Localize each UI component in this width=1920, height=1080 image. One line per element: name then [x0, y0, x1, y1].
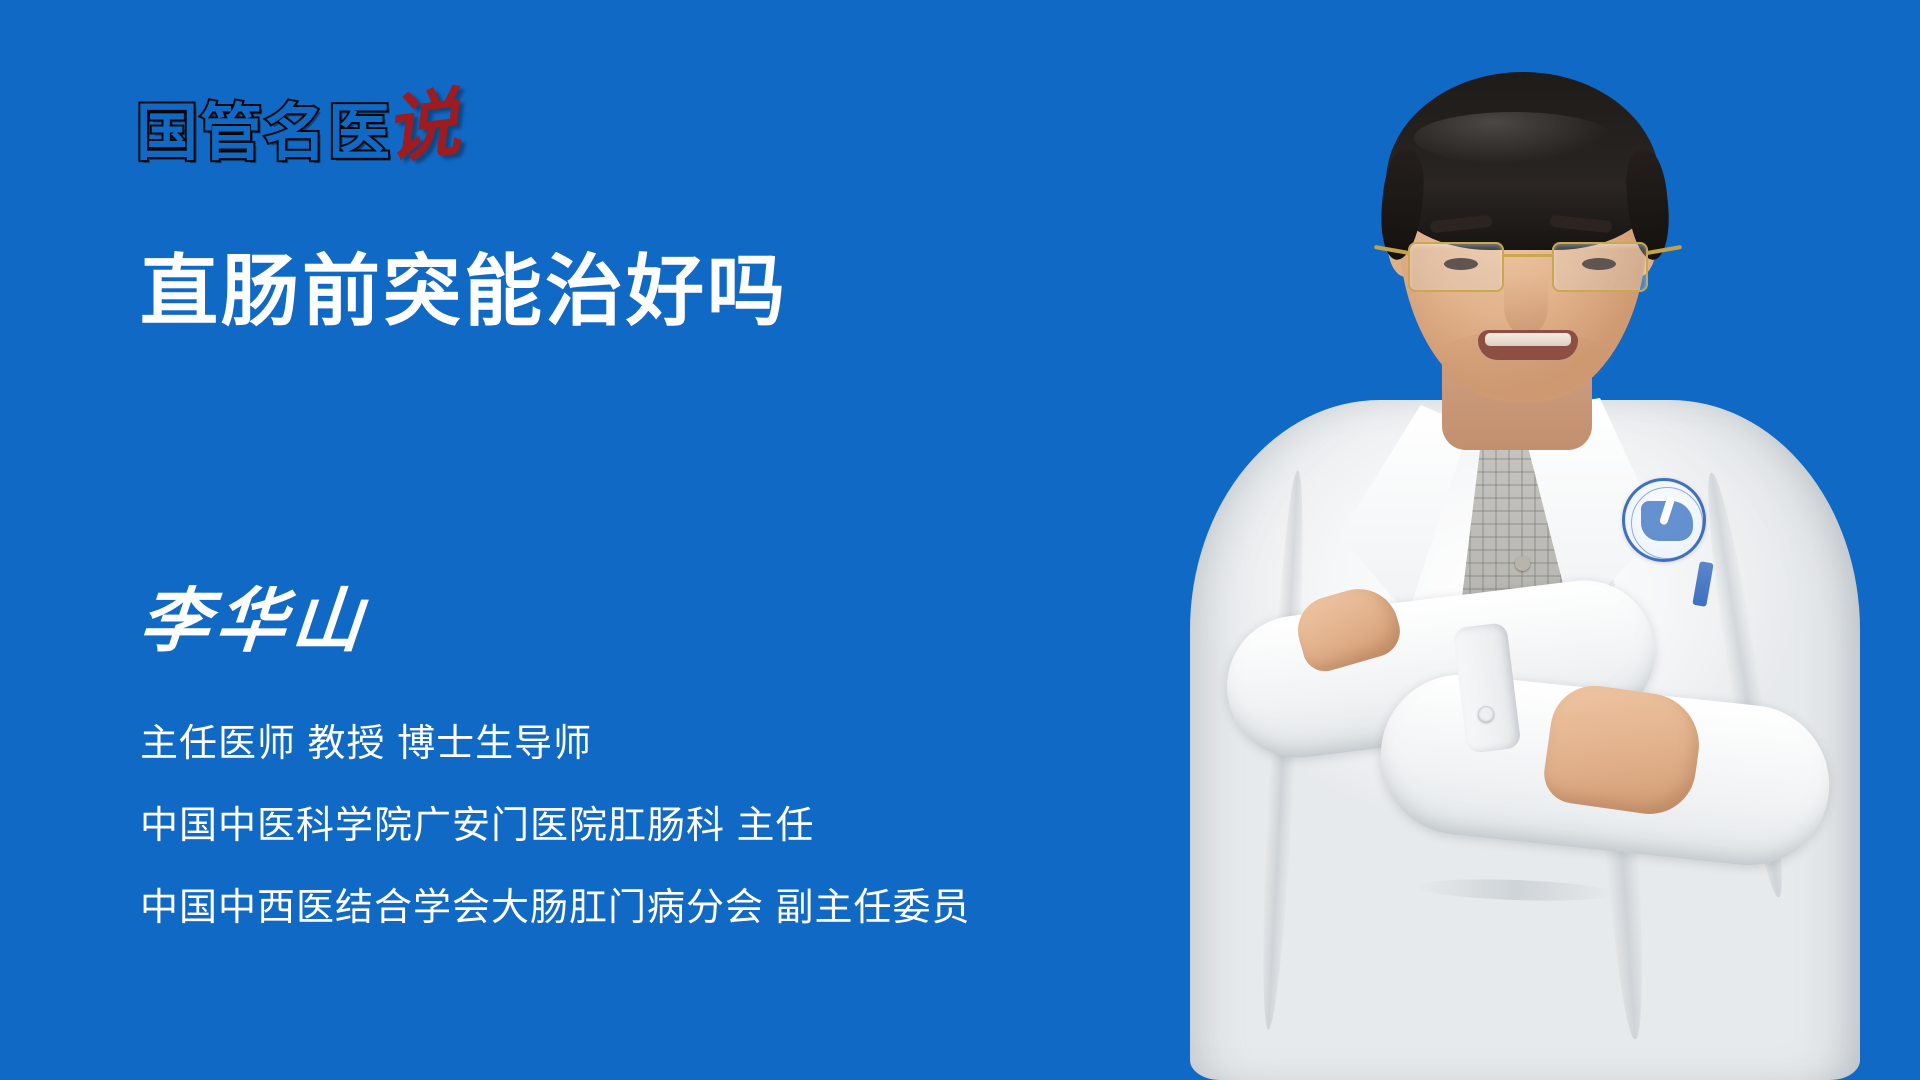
- glasses-lens-left: [1408, 242, 1504, 292]
- credential-line-2: 中国中医科学院广安门医院肛肠科 主任: [140, 804, 971, 848]
- doctor-portrait-image: [1130, 0, 1920, 1080]
- credential-line-3: 中国中西医结合学会大肠肛门病分会 副主任委员: [140, 886, 971, 930]
- hair: [1386, 72, 1660, 250]
- credential-line-1: 主任医师 教授 博士生导师: [140, 722, 971, 766]
- program-logo-accent-text: 说: [382, 92, 463, 163]
- shirt-button: [1515, 556, 1530, 571]
- program-logo-main-text: 国管名医: [136, 102, 392, 164]
- nose: [1504, 276, 1548, 336]
- hospital-emblem-badge-icon: [1622, 478, 1706, 562]
- badge-ring: [1631, 487, 1703, 559]
- glasses-bridge: [1504, 254, 1552, 257]
- speaker-name: 李华山: [137, 582, 372, 660]
- program-logo: 国管名医 说: [136, 86, 460, 164]
- cuff-button: [1478, 706, 1494, 722]
- teeth: [1485, 333, 1571, 346]
- page-title: 直肠前突能治好吗: [140, 248, 788, 334]
- glasses-lens-right: [1552, 242, 1648, 292]
- slide-canvas: 国管名医 说 直肠前突能治好吗 李华山 主任医师 教授 博士生导师 中国中医科学…: [0, 0, 1920, 1080]
- speaker-credentials: 主任医师 教授 博士生导师 中国中医科学院广安门医院肛肠科 主任 中国中西医结合…: [140, 722, 971, 930]
- mouth: [1478, 330, 1578, 360]
